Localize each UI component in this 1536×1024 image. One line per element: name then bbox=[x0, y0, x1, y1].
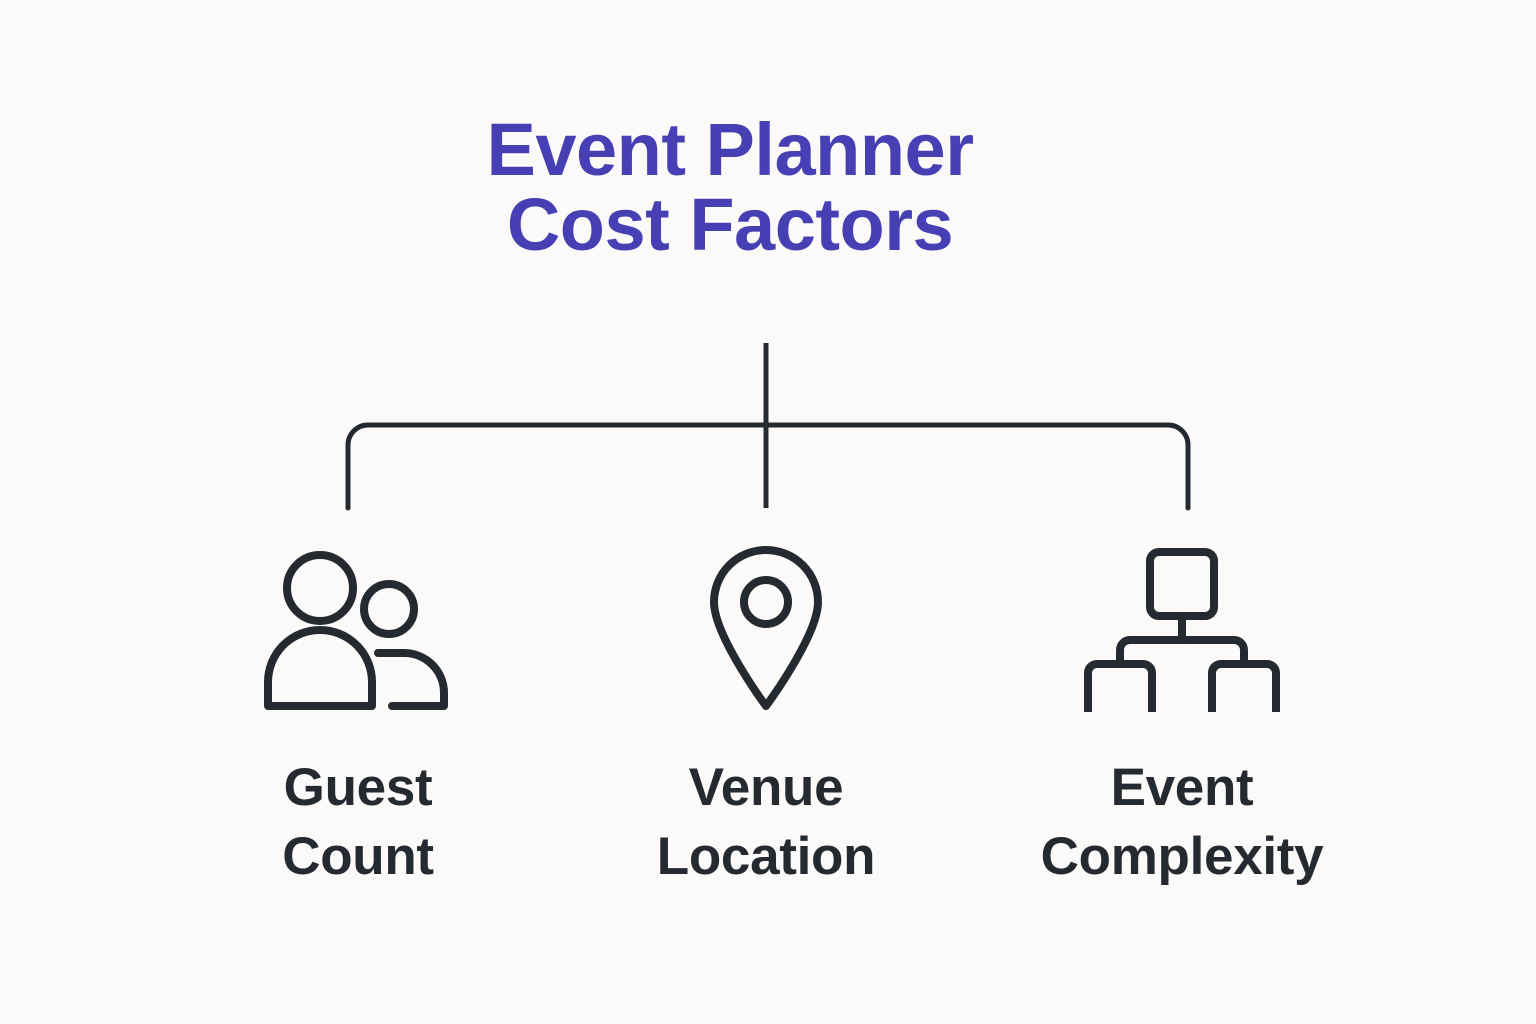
branch-event-complexity[interactable]: Event Complexity bbox=[1002, 536, 1362, 892]
people-group-icon bbox=[258, 536, 458, 712]
connector-right-branch bbox=[766, 425, 1188, 508]
map-pin-icon bbox=[696, 536, 836, 712]
branch-guest-count[interactable]: Guest Count bbox=[178, 536, 538, 892]
page-title-line-1: Event Planner bbox=[0, 112, 1460, 187]
org-chart-icon bbox=[1082, 536, 1282, 712]
branch-event-complexity-label-line-1: Event bbox=[1002, 754, 1362, 823]
connector-left-branch bbox=[348, 425, 766, 508]
branch-row: Guest Count Venue Location bbox=[0, 536, 1536, 916]
branch-venue-location-label-line-1: Venue bbox=[586, 754, 946, 823]
branch-event-complexity-label-line-2: Complexity bbox=[1002, 823, 1362, 892]
branch-guest-count-label: Guest Count bbox=[178, 754, 538, 892]
page-title: Event Planner Cost Factors bbox=[0, 112, 1460, 263]
branch-event-complexity-label: Event Complexity bbox=[1002, 754, 1362, 892]
branch-guest-count-label-line-1: Guest bbox=[178, 754, 538, 823]
page-title-line-2: Cost Factors bbox=[0, 187, 1460, 262]
branch-event-complexity-icon-wrap bbox=[1002, 536, 1362, 712]
branch-venue-location[interactable]: Venue Location bbox=[586, 536, 946, 892]
branch-venue-location-label: Venue Location bbox=[586, 754, 946, 892]
branch-guest-count-label-line-2: Count bbox=[178, 823, 538, 892]
branch-venue-location-icon-wrap bbox=[586, 536, 946, 712]
branch-venue-location-label-line-2: Location bbox=[586, 823, 946, 892]
diagram-canvas: Event Planner Cost Factors bbox=[0, 0, 1536, 1024]
branch-guest-count-icon-wrap bbox=[178, 536, 538, 712]
